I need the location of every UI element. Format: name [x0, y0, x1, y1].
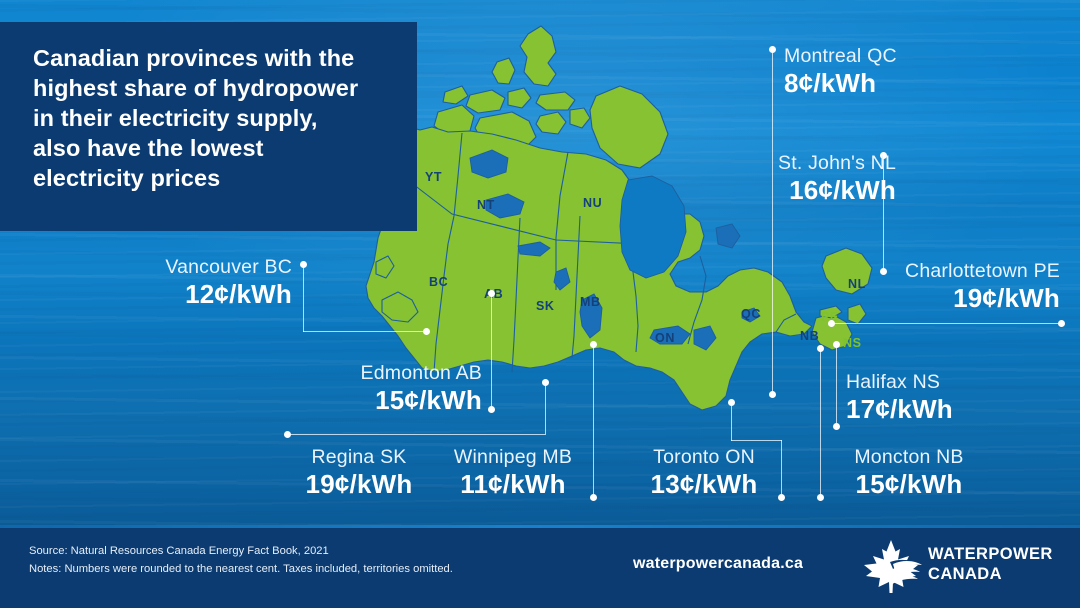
- callout-price-toronto: 13¢/kWh: [633, 469, 775, 499]
- arctic-island-bathurst: [508, 88, 531, 108]
- callout-city-winnipeg: Winnipeg MB: [437, 445, 589, 469]
- arctic-island-melville: [466, 90, 505, 113]
- callout-city-edmonton: Edmonton AB: [250, 361, 482, 385]
- leader-line-toronto-vertical-lower: [781, 440, 782, 497]
- callout-city-stjohns: St. John's NL: [660, 151, 896, 175]
- callout-winnipeg: Winnipeg MB 11¢/kWh: [437, 445, 589, 499]
- notes-line: Notes: Numbers were rounded to the neare…: [29, 561, 629, 579]
- arctic-island-prince-patrick: [443, 86, 468, 104]
- leader-line-vancouver-horizontal: [303, 331, 425, 332]
- logo-line-2: CANADA: [928, 564, 1053, 584]
- title-line-5: electricity prices: [33, 163, 395, 193]
- leader-dot-moncton-map: [817, 345, 824, 352]
- waterpower-canada-logo: WATERPOWER CANADA: [860, 538, 1050, 594]
- callout-montreal: Montreal QC 8¢/kWh: [784, 44, 897, 98]
- province-label-on: ON: [655, 331, 675, 345]
- leader-line-vancouver-vertical: [303, 267, 304, 332]
- province-label-nu: NU: [583, 196, 602, 210]
- callout-moncton: Moncton NB 15¢/kWh: [829, 445, 989, 499]
- leader-line-charlottetown: [834, 323, 1060, 324]
- callout-price-edmonton: 15¢/kWh: [250, 385, 482, 415]
- leader-dot-montreal-label: [769, 46, 776, 53]
- leader-dot-montreal-map: [769, 391, 776, 398]
- leader-dot-winnipeg-map: [590, 341, 597, 348]
- leader-line-toronto-vertical-upper: [731, 405, 732, 441]
- leader-line-regina-horizontal: [290, 434, 546, 435]
- leader-dot-vancouver-map: [423, 328, 430, 335]
- title-line-3: in their electricity supply,: [33, 103, 395, 133]
- callout-price-montreal: 8¢/kWh: [784, 68, 897, 98]
- leader-dot-charlottetown-map: [828, 320, 835, 327]
- leader-dot-regina-label: [284, 431, 291, 438]
- arctic-island-ellesmere: [520, 26, 556, 86]
- leader-dot-moncton-label: [817, 494, 824, 501]
- province-label-mb: MB: [580, 295, 601, 309]
- maple-leaf-wave-icon: [860, 538, 922, 594]
- callout-city-regina: Regina SK: [278, 445, 440, 469]
- leader-line-moncton: [820, 351, 821, 497]
- leader-dot-winnipeg-label: [590, 494, 597, 501]
- leader-dot-halifax-map: [833, 341, 840, 348]
- province-label-yt: YT: [425, 170, 442, 184]
- logo-wordmark: WATERPOWER CANADA: [928, 544, 1053, 584]
- leader-dot-toronto-map: [728, 399, 735, 406]
- callout-price-charlottetown: 19¢/kWh: [760, 283, 1060, 313]
- province-label-sk: SK: [536, 299, 555, 313]
- callout-city-moncton: Moncton NB: [829, 445, 989, 469]
- arctic-island-axel: [492, 58, 515, 84]
- leader-dot-charlottetown-label: [1058, 320, 1065, 327]
- callout-edmonton: Edmonton AB 15¢/kWh: [250, 361, 482, 415]
- callout-halifax: Halifax NS 17¢/kWh: [846, 370, 953, 424]
- page-title: Canadian provinces with the highest shar…: [33, 43, 395, 193]
- callout-regina: Regina SK 19¢/kWh: [278, 445, 440, 499]
- leader-line-montreal: [772, 52, 773, 394]
- footer-divider: [0, 525, 1080, 528]
- leader-line-regina-vertical: [545, 382, 546, 434]
- leader-dot-toronto-label: [778, 494, 785, 501]
- callout-price-vancouver: 12¢/kWh: [60, 279, 292, 309]
- leader-line-toronto-horizontal: [731, 440, 782, 441]
- province-label-bc: BC: [429, 275, 448, 289]
- website-url[interactable]: waterpowercanada.ca: [633, 555, 803, 573]
- arctic-island-devon: [536, 92, 575, 110]
- leader-line-winnipeg: [593, 347, 594, 497]
- callout-city-halifax: Halifax NS: [846, 370, 953, 394]
- leader-dot-edmonton-label: [488, 406, 495, 413]
- callout-price-halifax: 17¢/kWh: [846, 394, 953, 424]
- callout-stjohns: St. John's NL 16¢/kWh: [660, 151, 896, 205]
- title-line-2: highest share of hydropower: [33, 73, 395, 103]
- callout-price-stjohns: 16¢/kWh: [660, 175, 896, 205]
- arctic-island-somerset: [570, 108, 590, 128]
- callout-city-montreal: Montreal QC: [784, 44, 897, 68]
- callout-price-moncton: 15¢/kWh: [829, 469, 989, 499]
- callout-vancouver: Vancouver BC 12¢/kWh: [60, 255, 292, 309]
- leader-line-halifax: [836, 347, 837, 426]
- callout-city-vancouver: Vancouver BC: [60, 255, 292, 279]
- footer-source-block: Source: Natural Resources Canada Energy …: [29, 543, 629, 578]
- title-line-4: also have the lowest: [33, 133, 395, 163]
- callout-city-charlottetown: Charlottetown PE: [760, 259, 1060, 283]
- arctic-island-prince-of-wales: [536, 112, 566, 134]
- leader-line-edmonton: [491, 296, 492, 409]
- infographic-canvas: YT NT NU BC AB SK MB ON QC NL NB PE NS: [0, 0, 1080, 608]
- title-line-1: Canadian provinces with the: [33, 43, 395, 73]
- logo-line-1: WATERPOWER: [928, 544, 1053, 564]
- source-line: Source: Natural Resources Canada Energy …: [29, 543, 629, 561]
- arctic-island-baffin: [590, 86, 668, 168]
- leader-dot-halifax-label: [833, 423, 840, 430]
- leader-dot-edmonton-map: [488, 290, 495, 297]
- province-label-nt: NT: [477, 198, 495, 212]
- province-label-qc: QC: [741, 307, 761, 321]
- callout-price-regina: 19¢/kWh: [278, 469, 440, 499]
- ungava-bay: [716, 224, 740, 248]
- province-label-ns: NS: [843, 336, 862, 350]
- callout-toronto: Toronto ON 13¢/kWh: [633, 445, 775, 499]
- callout-charlottetown: Charlottetown PE 19¢/kWh: [760, 259, 1060, 313]
- leader-dot-vancouver-label: [300, 261, 307, 268]
- callout-price-winnipeg: 11¢/kWh: [437, 469, 589, 499]
- province-label-nb: NB: [800, 329, 819, 343]
- callout-city-toronto: Toronto ON: [633, 445, 775, 469]
- leader-dot-regina-map: [542, 379, 549, 386]
